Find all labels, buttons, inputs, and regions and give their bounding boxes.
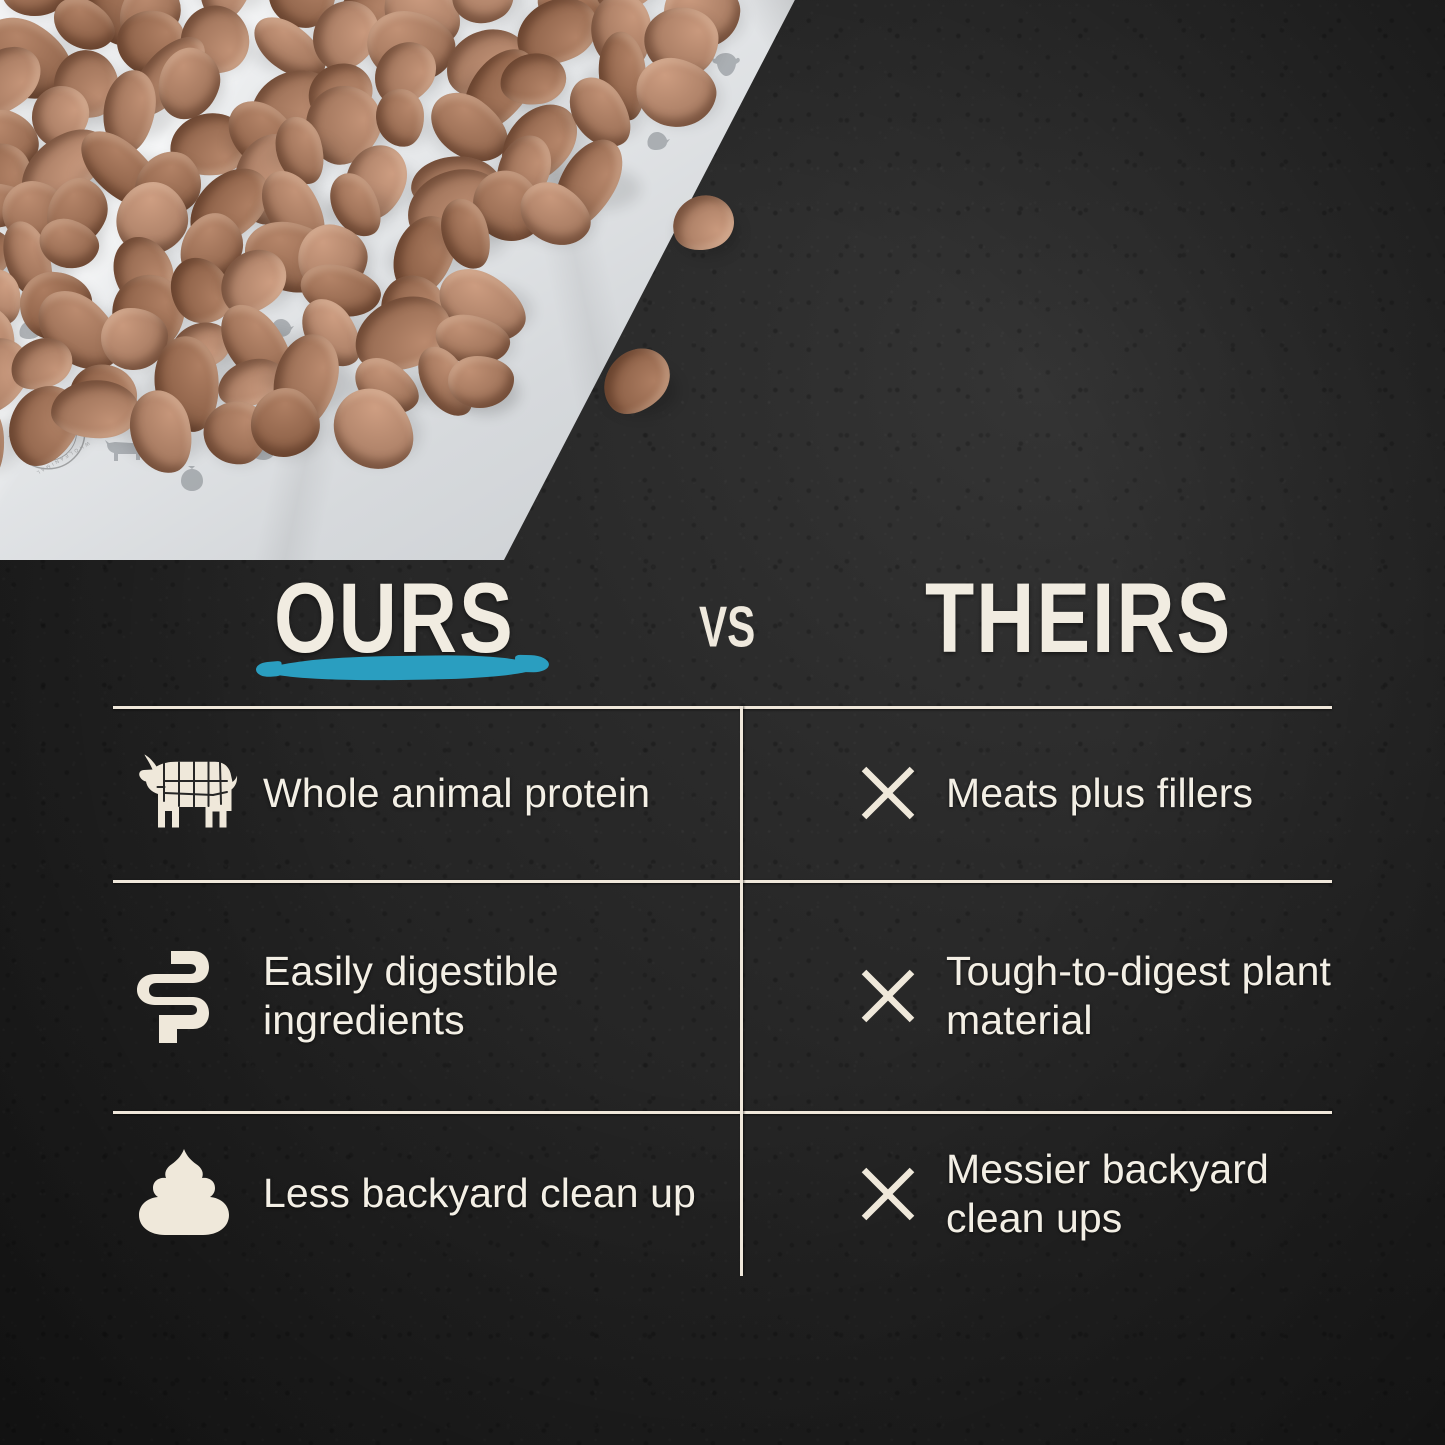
- x-mark-icon: [830, 1165, 946, 1223]
- stool-poop-icon: [135, 1147, 263, 1241]
- ours-feature-label: Whole animal protein: [263, 769, 650, 818]
- paper-mark-turkey-icon: [178, 466, 206, 494]
- cell-ours-2: Easily digestible ingredients: [113, 880, 740, 1111]
- cell-theirs-3: Messier backyard clean ups: [740, 1111, 1332, 1276]
- table-row: Whole animal protein Meats plus fillers: [113, 706, 1332, 880]
- product-photo: B U T C H E R ' S C U T P R O T E I N W …: [0, 0, 880, 560]
- x-mark-icon: [830, 967, 946, 1025]
- ours-vs-theirs-table: OURS VS THEIRS: [113, 560, 1332, 1290]
- paper-mark-chicken-icon: [644, 127, 672, 152]
- table-row: Less backyard clean up Messier backyard …: [113, 1111, 1332, 1276]
- versus-label: VS: [699, 595, 755, 661]
- x-mark-icon: [830, 764, 946, 822]
- intestine-digestion-icon: [135, 945, 263, 1047]
- cell-theirs-1: Meats plus fillers: [740, 706, 1332, 880]
- cell-ours-3: Less backyard clean up: [113, 1111, 740, 1276]
- cell-ours-1: Whole animal protein: [113, 706, 740, 880]
- theirs-feature-label: Meats plus fillers: [946, 769, 1253, 818]
- table-header: OURS VS THEIRS: [113, 560, 1332, 706]
- theirs-feature-label: Tough-to-digest plant material: [946, 947, 1332, 1045]
- ours-feature-label: Less backyard clean up: [263, 1169, 696, 1218]
- product-comparison-infographic: B U T C H E R ' S C U T P R O T E I N W …: [0, 0, 1445, 1445]
- cow-butcher-chart-icon: [135, 749, 263, 837]
- theirs-feature-label: Messier backyard clean ups: [946, 1145, 1332, 1243]
- table-row: Easily digestible ingredients Tough-to-d…: [113, 880, 1332, 1111]
- ours-feature-label: Easily digestible ingredients: [263, 947, 740, 1045]
- column-header-ours: OURS: [274, 568, 515, 667]
- column-header-theirs: THEIRS: [925, 568, 1232, 667]
- cell-theirs-2: Tough-to-digest plant material: [740, 880, 1332, 1111]
